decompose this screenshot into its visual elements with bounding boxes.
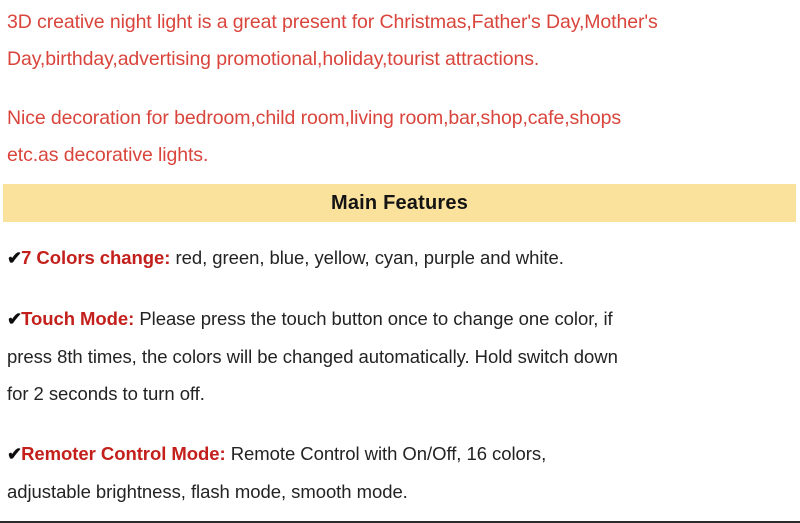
feature-item-remote-control-mode: ✔Remoter Control Mode: Remote Control wi…: [7, 435, 794, 510]
product-description-page: 3D creative night light is a great prese…: [0, 0, 800, 523]
feature-item-touch-mode: ✔Touch Mode: Please press the touch butt…: [7, 300, 794, 412]
features-list: ✔7 Colors change: red, green, blue, yell…: [0, 239, 800, 510]
feature-item-colors: ✔7 Colors change: red, green, blue, yell…: [7, 239, 794, 277]
feature-text-touch-mode-line-1: Please press the touch button once to ch…: [134, 308, 612, 329]
feature-label-colors: 7 Colors change:: [21, 247, 170, 268]
feature-text-remote-control-line-1: Remote Control with On/Off, 16 colors,: [226, 443, 547, 464]
intro-block: 3D creative night light is a great prese…: [0, 0, 800, 174]
main-features-banner: Main Features: [3, 184, 796, 222]
intro-paragraph-2-line-2: etc.as decorative lights.: [7, 137, 794, 174]
feature-text-touch-mode-line-3: for 2 seconds to turn off.: [7, 383, 205, 404]
intro-paragraph-gap: [7, 78, 794, 100]
checkmark-icon: ✔: [7, 309, 21, 329]
intro-paragraph-2-line-1: Nice decoration for bedroom,child room,l…: [7, 100, 794, 137]
feature-text-colors-line-1: red, green, blue, yellow, cyan, purple a…: [170, 247, 563, 268]
intro-paragraph-1-line-1: 3D creative night light is a great prese…: [7, 0, 794, 41]
feature-label-touch-mode: Touch Mode:: [21, 308, 134, 329]
main-features-title: Main Features: [331, 192, 468, 215]
checkmark-icon: ✔: [7, 248, 21, 268]
feature-text-remote-control-line-2: adjustable brightness, flash mode, smoot…: [7, 481, 408, 502]
feature-text-touch-mode-line-2: press 8th times, the colors will be chan…: [7, 346, 618, 367]
intro-paragraph-1-line-2: Day,birthday,advertising promotional,hol…: [7, 41, 794, 78]
feature-label-remote-control-mode: Remoter Control Mode:: [21, 443, 226, 464]
checkmark-icon: ✔: [7, 444, 21, 464]
